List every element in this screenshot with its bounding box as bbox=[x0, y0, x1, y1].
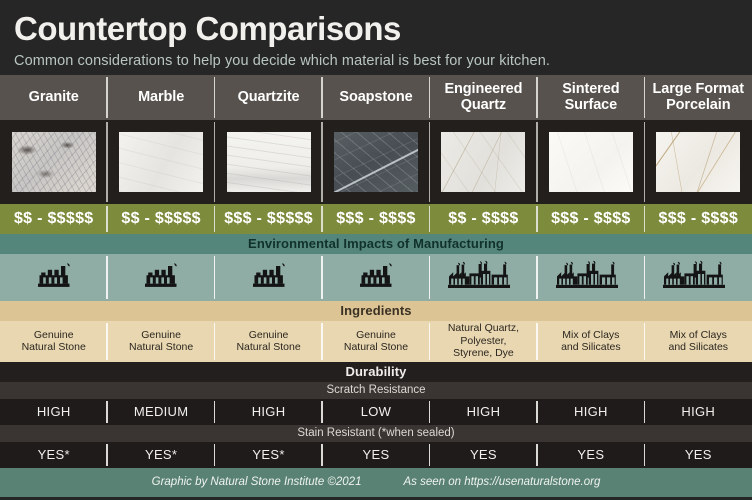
price-range-row: $$ - $$$$$$$ - $$$$$$$$ - $$$$$$$$ - $$$… bbox=[0, 204, 752, 234]
swatch-cell bbox=[0, 120, 107, 204]
swatch-cell bbox=[107, 120, 214, 204]
ingredient-line: Styrene, Dye bbox=[453, 347, 514, 359]
ingredient-line: Natural Quartz, bbox=[448, 322, 519, 334]
ingredients-text: GenuineNatural Stone bbox=[344, 329, 408, 354]
stain-resistant-cell: YES* bbox=[0, 442, 107, 468]
ingredients-cell: Mix of Claysand Silicates bbox=[645, 321, 752, 362]
small-factory-icon bbox=[141, 262, 181, 292]
ingredient-line: and Silicates bbox=[561, 341, 621, 353]
scratch-resistance-cell: HIGH bbox=[215, 399, 322, 425]
scratch-resistance-cell: LOW bbox=[322, 399, 429, 425]
stain-resistant-value: YES bbox=[363, 447, 390, 462]
stain-resistant-value: YES bbox=[685, 447, 712, 462]
header-line: Sintered bbox=[562, 81, 619, 97]
price-cell: $$$ - $$$$ bbox=[645, 204, 752, 234]
small-factory-icon bbox=[249, 262, 289, 292]
ingredients-text: Mix of Claysand Silicates bbox=[669, 329, 729, 354]
stain-resistant-cell: YES bbox=[322, 442, 429, 468]
footer-bar: Graphic by Natural Stone Institute ©2021… bbox=[0, 468, 752, 497]
column-header-engineered-quartz: EngineeredQuartz bbox=[430, 75, 537, 120]
ingredients-cell: GenuineNatural Stone bbox=[0, 321, 107, 362]
ingredient-line: Genuine bbox=[356, 329, 396, 341]
header-line: Soapstone bbox=[339, 89, 412, 105]
column-header-label: Marble bbox=[138, 89, 184, 105]
price-range-value: $$$ - $$$$ bbox=[551, 210, 631, 228]
header-line: Quartz bbox=[461, 97, 506, 113]
scratch-resistance-cell: HIGH bbox=[645, 399, 752, 425]
price-range-value: $$ - $$$$$ bbox=[121, 210, 201, 228]
stain-resistant-cell: YES bbox=[430, 442, 537, 468]
ingredient-line: Genuine bbox=[34, 329, 74, 341]
column-header-large-format-porcelain: Large FormatPorcelain bbox=[645, 75, 752, 120]
column-header-sintered-surface: SinteredSurface bbox=[537, 75, 644, 120]
price-cell: $$$ - $$$$ bbox=[537, 204, 644, 234]
large-factory-icon bbox=[555, 260, 627, 294]
page-subtitle: Common considerations to help you decide… bbox=[14, 53, 752, 69]
stain-resistant-cell: YES* bbox=[215, 442, 322, 468]
scratch-resistance-value: HIGH bbox=[467, 404, 501, 419]
price-range-value: $$$ - $$$$ bbox=[336, 210, 416, 228]
ingredient-line: Mix of Clays bbox=[670, 329, 727, 341]
ingredients-cell: GenuineNatural Stone bbox=[215, 321, 322, 362]
material-swatch-row bbox=[0, 120, 752, 204]
large-format-porcelain-swatch bbox=[656, 132, 740, 192]
column-header-label: Large FormatPorcelain bbox=[653, 81, 744, 113]
section-header-environmental: Environmental Impacts of Manufacturing bbox=[0, 234, 752, 254]
stain-resistant-cell: YES bbox=[645, 442, 752, 468]
scratch-resistance-value: HIGH bbox=[252, 404, 286, 419]
stain-resistant-value: YES* bbox=[252, 447, 284, 462]
ingredients-cell: Mix of Claysand Silicates bbox=[537, 321, 644, 362]
environmental-impact-cell bbox=[0, 254, 107, 301]
scratch-resistance-value: MEDIUM bbox=[134, 404, 189, 419]
ingredient-line: Mix of Clays bbox=[562, 329, 619, 341]
large-factory-icon bbox=[662, 260, 734, 294]
column-header-label: EngineeredQuartz bbox=[444, 81, 522, 113]
stain-resistant-value: YES* bbox=[38, 447, 70, 462]
column-header-quartzite: Quartzite bbox=[215, 75, 322, 120]
soapstone-swatch bbox=[334, 132, 418, 192]
price-cell: $$$ - $$$$$ bbox=[215, 204, 322, 234]
column-header-soapstone: Soapstone bbox=[322, 75, 429, 120]
stain-resistant-value: YES bbox=[470, 447, 497, 462]
stain-resistant-value: YES bbox=[577, 447, 604, 462]
infographic-page: Countertop Comparisons Common considerat… bbox=[0, 0, 752, 500]
scratch-resistance-cell: MEDIUM bbox=[107, 399, 214, 425]
price-cell: $$ - $$$$ bbox=[430, 204, 537, 234]
stain-resistant-cell: YES* bbox=[107, 442, 214, 468]
ingredients-cell: GenuineNatural Stone bbox=[322, 321, 429, 362]
footer-credit: Graphic by Natural Stone Institute ©2021 bbox=[152, 476, 362, 488]
scratch-resistance-value: LOW bbox=[361, 404, 392, 419]
ingredients-cell: Natural Quartz,Polyester,Styrene, Dye bbox=[430, 321, 537, 362]
ingredient-line: Polyester, bbox=[460, 335, 506, 347]
ingredients-text: GenuineNatural Stone bbox=[22, 329, 86, 354]
footer-source[interactable]: As seen on https://usenaturalstone.org bbox=[403, 476, 600, 488]
header-line: Large Format bbox=[653, 81, 744, 97]
ingredient-line: Genuine bbox=[249, 329, 289, 341]
scratch-resistance-cell: HIGH bbox=[537, 399, 644, 425]
column-header-marble: Marble bbox=[107, 75, 214, 120]
price-range-value: $$ - $$$$$ bbox=[14, 210, 94, 228]
column-header-label: Soapstone bbox=[339, 89, 412, 105]
price-range-value: $$$ - $$$$ bbox=[659, 210, 739, 228]
sintered-surface-swatch bbox=[549, 132, 633, 192]
section-header-ingredients: Ingredients bbox=[0, 301, 752, 321]
small-factory-icon bbox=[356, 262, 396, 292]
column-header-granite: Granite bbox=[0, 75, 107, 120]
header-line: Engineered bbox=[444, 81, 522, 97]
granite-swatch bbox=[12, 132, 96, 192]
ingredient-line: Natural Stone bbox=[344, 341, 408, 353]
ingredients-text: Mix of Claysand Silicates bbox=[561, 329, 621, 354]
marble-swatch bbox=[119, 132, 203, 192]
material-header-row: GraniteMarbleQuartziteSoapstoneEngineere… bbox=[0, 75, 752, 120]
environmental-impact-cell bbox=[322, 254, 429, 301]
environmental-impact-cell bbox=[537, 254, 644, 301]
large-factory-icon bbox=[447, 260, 519, 294]
title-block: Countertop Comparisons Common considerat… bbox=[0, 0, 752, 75]
header-line: Surface bbox=[565, 97, 618, 113]
scratch-resistance-row: HIGHMEDIUMHIGHLOWHIGHHIGHHIGH bbox=[0, 399, 752, 425]
subsection-header-scratch-resistance: Scratch Resistance bbox=[0, 382, 752, 399]
page-title: Countertop Comparisons bbox=[14, 12, 752, 47]
ingredient-line: and Silicates bbox=[669, 341, 729, 353]
ingredients-text: Natural Quartz,Polyester,Styrene, Dye bbox=[448, 322, 519, 360]
price-cell: $$$ - $$$$ bbox=[322, 204, 429, 234]
ingredient-line: Natural Stone bbox=[236, 341, 300, 353]
column-header-label: Quartzite bbox=[238, 89, 300, 105]
environmental-impact-cell bbox=[107, 254, 214, 301]
price-range-value: $$$ - $$$$$ bbox=[224, 210, 313, 228]
stain-resistant-row: YES*YES*YES*YESYESYESYES bbox=[0, 442, 752, 468]
environmental-impact-cell bbox=[645, 254, 752, 301]
swatch-cell bbox=[322, 120, 429, 204]
ingredients-text: GenuineNatural Stone bbox=[236, 329, 300, 354]
price-range-value: $$ - $$$$ bbox=[448, 210, 518, 228]
scratch-resistance-value: HIGH bbox=[37, 404, 71, 419]
ingredient-line: Natural Stone bbox=[22, 341, 86, 353]
price-cell: $$ - $$$$$ bbox=[0, 204, 107, 234]
quartzite-swatch bbox=[227, 132, 311, 192]
stain-resistant-value: YES* bbox=[145, 447, 177, 462]
scratch-resistance-value: HIGH bbox=[681, 404, 715, 419]
swatch-cell bbox=[537, 120, 644, 204]
scratch-resistance-cell: HIGH bbox=[0, 399, 107, 425]
ingredient-line: Genuine bbox=[141, 329, 181, 341]
scratch-resistance-cell: HIGH bbox=[430, 399, 537, 425]
header-line: Porcelain bbox=[666, 97, 730, 113]
environmental-icons-row bbox=[0, 254, 752, 301]
price-cell: $$ - $$$$$ bbox=[107, 204, 214, 234]
stain-resistant-cell: YES bbox=[537, 442, 644, 468]
scratch-resistance-value: HIGH bbox=[574, 404, 608, 419]
column-header-label: SinteredSurface bbox=[562, 81, 619, 113]
column-header-label: Granite bbox=[29, 89, 79, 105]
swatch-cell bbox=[645, 120, 752, 204]
subsection-header-stain-resistant: Stain Resistant (*when sealed) bbox=[0, 425, 752, 442]
engineered-quartz-swatch bbox=[441, 132, 525, 192]
header-line: Granite bbox=[29, 89, 79, 105]
ingredients-text: GenuineNatural Stone bbox=[129, 329, 193, 354]
section-header-durability: Durability bbox=[0, 362, 752, 382]
small-factory-icon bbox=[34, 262, 74, 292]
swatch-cell bbox=[430, 120, 537, 204]
header-line: Marble bbox=[138, 89, 184, 105]
environmental-impact-cell bbox=[215, 254, 322, 301]
ingredients-row: GenuineNatural StoneGenuineNatural Stone… bbox=[0, 321, 752, 362]
environmental-impact-cell bbox=[430, 254, 537, 301]
header-line: Quartzite bbox=[238, 89, 300, 105]
ingredients-cell: GenuineNatural Stone bbox=[107, 321, 214, 362]
swatch-cell bbox=[215, 120, 322, 204]
ingredient-line: Natural Stone bbox=[129, 341, 193, 353]
